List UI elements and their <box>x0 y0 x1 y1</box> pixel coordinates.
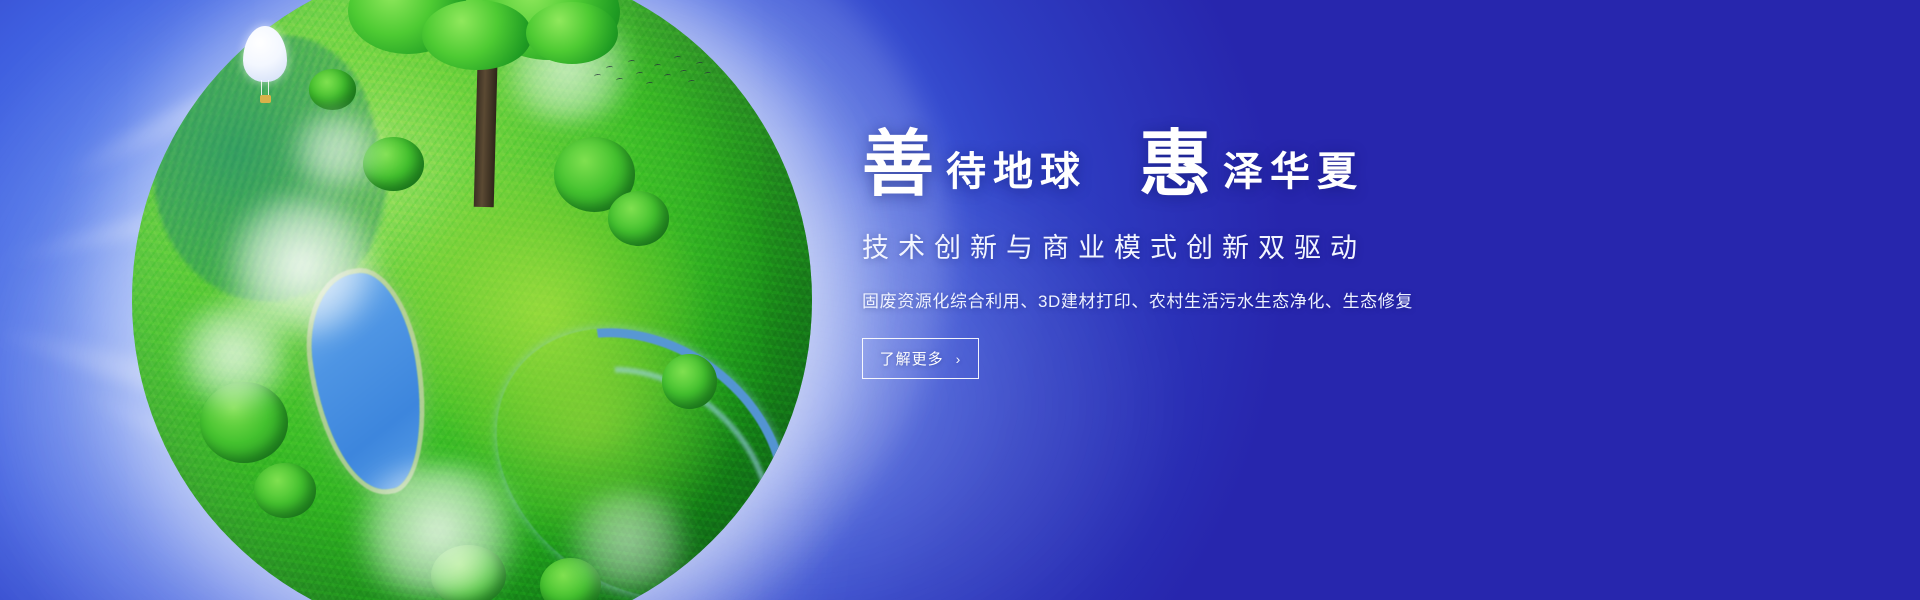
balloon-cords <box>261 80 269 96</box>
chevron-right-icon: › <box>956 352 962 366</box>
bush <box>431 545 506 600</box>
bird-flock <box>592 52 712 90</box>
learn-more-label: 了解更多 <box>880 348 944 369</box>
hero-banner: 善 待地球 惠 泽华夏 技术创新与商业模式创新双驱动 固废资源化综合利用、3D建… <box>0 0 1920 600</box>
headline-part2-small: 泽华夏 <box>1213 152 1364 200</box>
balloon-basket <box>260 95 271 103</box>
tree-canopy <box>422 0 532 70</box>
bush <box>608 191 669 245</box>
bush <box>254 463 315 517</box>
hero-subtitle: 技术创新与商业模式创新双驱动 <box>862 226 1562 265</box>
tree <box>330 0 630 192</box>
headline-part2-big: 惠 <box>1139 128 1213 200</box>
learn-more-button[interactable]: 了解更多 › <box>862 338 979 379</box>
hero-description: 固废资源化综合利用、3D建材打印、农村生活污水生态净化、生态修复 <box>862 287 1562 312</box>
headline-part1-small: 待地球 <box>936 152 1087 200</box>
headline-part1-big: 善 <box>862 128 936 200</box>
bush <box>662 354 716 408</box>
hot-air-balloon-icon <box>243 26 287 118</box>
page-title: 善 待地球 惠 泽华夏 <box>862 128 1562 200</box>
hero-content: 善 待地球 惠 泽华夏 技术创新与商业模式创新双驱动 固废资源化综合利用、3D建… <box>862 128 1562 379</box>
balloon-envelope <box>243 26 287 82</box>
bush <box>200 382 288 464</box>
